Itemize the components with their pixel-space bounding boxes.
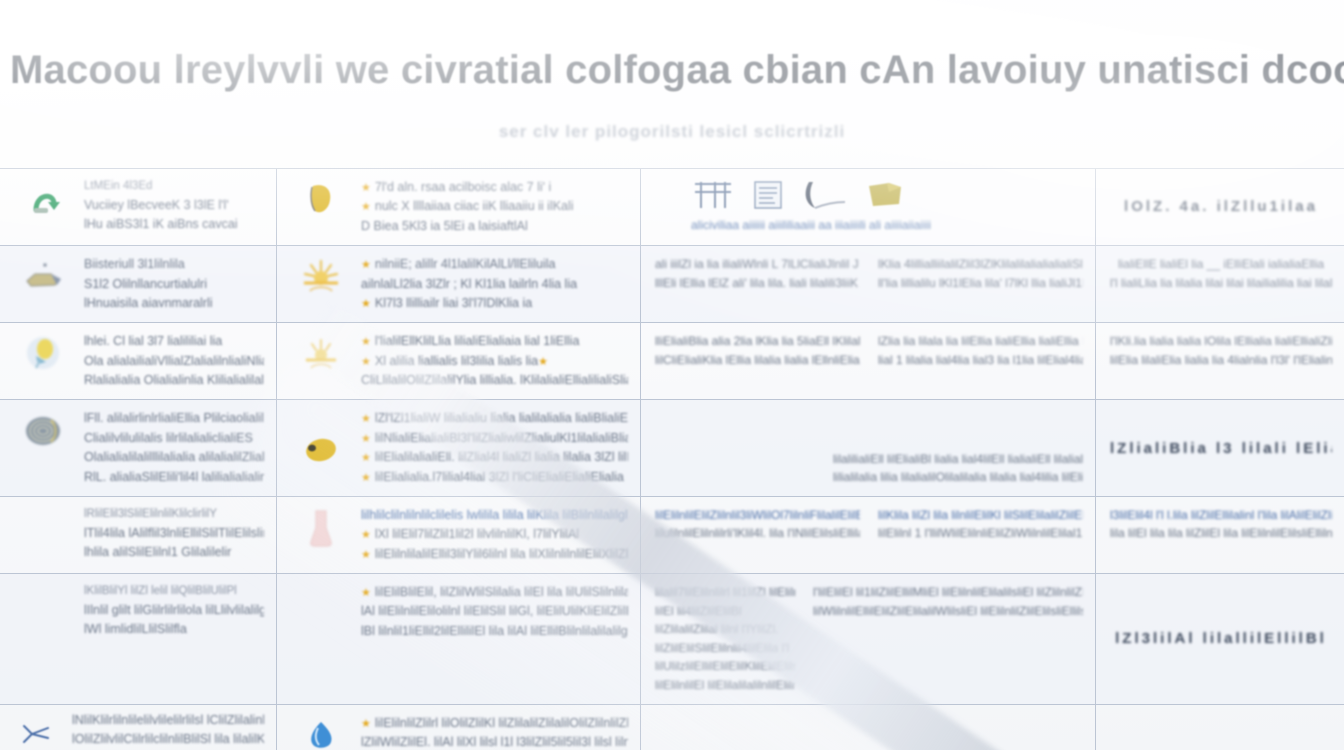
text-line: lilElilnlilElilZlilnlil3liWlilOl7lilnliF… <box>655 506 860 525</box>
gold-bean-icon <box>291 426 351 470</box>
text-line: ★lilElilnlilalilEllil3lilYlil6lilnl lila… <box>361 545 628 564</box>
star-bullet-icon: ★ <box>538 356 548 368</box>
text-line: lilialilalia lilia lilalialilOlilalilali… <box>833 468 1083 487</box>
cell-text: lFll. alilalirlinlrlialiEllia Plilciaoli… <box>84 409 264 487</box>
text-line: ★lXl lilElil7lilZlil1lil2l lilvlilnlilKl… <box>361 525 628 544</box>
detail-split: lilalil7lilElilnlilrl lil1lilZl lilEliln… <box>655 583 1083 695</box>
text-line: lNlilKlilrlilnlilelilvlilelilrlilsl lCli… <box>72 711 264 730</box>
cell-text: LtMEin 4l3Ed Vuciiey lBecveeK 3 l3lE l'l… <box>84 178 264 235</box>
page-title: Macoou lreylvvli we civratial colfogaa c… <box>10 48 1334 92</box>
star-bullet-icon: ★ <box>361 472 371 484</box>
text-line: lila lilEl lila lila lilZlilEl lila lilE… <box>1110 524 1332 543</box>
text-line: lHu aiBS3l1 iK aiBns cavcai <box>84 215 264 234</box>
text-line: lilalilialiEll lilElialiBl lialia lial4l… <box>833 450 1083 469</box>
text-line: ★lilElialilalialiEll. lilZlial4l lialiZl… <box>361 448 628 467</box>
text-line: lhlila alilSlilElilnl1 Glilalilelir <box>84 543 264 562</box>
text-line: lOlZ. 4a. ilZllu1ilaa <box>1124 195 1318 218</box>
star-bullet-icon: ★ <box>361 182 371 194</box>
text-line: lilCliElialiKlia lEllia lilalia lialia l… <box>655 351 860 370</box>
cell-text: Biisteriull 3l1lilnlila S1l2 Olilnllancu… <box>84 255 264 313</box>
text-line: lZl3lilAl lilallilEllilBl <box>1115 627 1327 650</box>
text-line: lIlnlil glilt lilGlilrlilrlilola lilLlil… <box>84 601 264 620</box>
text-line: lBl lilnlil1liEllil2lilEllililEl lila li… <box>361 622 628 641</box>
table-cell-feature: lRlilElil3lSlilElilnlilKlilclirlilY lTli… <box>0 497 277 573</box>
table-cell-details: lliElialiBlia alia 2lia lKlia lia 5liaEl… <box>641 323 1096 399</box>
text-line: lllEli lEllia lElZ ali' lila lila. liali… <box>655 274 860 293</box>
detail-left: lliElialiBlia alia 2lia lKlia lia 5liaEl… <box>655 332 860 369</box>
table-row[interactable]: lNlilKlilrlilnlilelilvlilelilrlilsl lCli… <box>0 705 1344 750</box>
page-header: Macoou lreylvvli we civratial colfogaa c… <box>0 0 1344 142</box>
text-line: lZlialiBlia l3 lilali lElialiEllia lilal… <box>1110 437 1332 460</box>
feature-top-block: lNlilKlilrlilnlilelilvlilelilrlilsl lCli… <box>14 711 264 750</box>
cell-ovum-icon <box>14 332 74 376</box>
star-bullet-icon: ★ <box>361 452 371 464</box>
table-cell-rating: lZlialiBlia l3 lilali lElialiEllia lilal… <box>1096 400 1344 496</box>
text-line: ★l'lialilEllKlilLlia lilialiElialiaia li… <box>361 332 628 351</box>
text-line: Olalialialilalilllilalialia alilalialilZ… <box>84 448 264 467</box>
text-line: ★Kl7l3 llilliailr liai 3l'l7lDlKlia ia <box>361 294 628 313</box>
text-line: lilElia lilaliElia lialia lia 4lialnlia … <box>1110 351 1332 370</box>
table-cell-details: lilalil7lilElilnlilrl lil1lilZl lilEliln… <box>641 574 1096 704</box>
table-cell-benefits: ★lilElilBlilElil, lilZlilWlilSlilalia li… <box>277 574 641 704</box>
star-bullet-icon: ★ <box>361 413 371 425</box>
table-cell-details: lilalilialiEll lilElialiBl lialia lial4l… <box>641 400 1096 496</box>
fingerprint-sphere-icon <box>14 409 74 453</box>
cell-text: ★nilniiE; alillr 4l1lalilKilAlLl/llElilu… <box>361 255 628 313</box>
star-bullet-icon: ★ <box>361 718 371 730</box>
comparison-table: LtMEin 4l3Ed Vuciiey lBecveeK 3 l3lE l'l… <box>0 168 1344 750</box>
text-line: ★Xl alilia liallialis lil3lilia lialis l… <box>361 352 628 371</box>
star-bullet-icon: ★ <box>361 587 371 599</box>
toolbox-icon <box>14 255 74 299</box>
text-line: Biisteriull 3l1lilnlila <box>84 255 264 274</box>
detail-right: lilalilialiEll lilElialiBl lialia lial4l… <box>833 450 1083 487</box>
text-line: lKlilBlilYl lilZl lelil lilQlilBlilUlilP… <box>84 583 264 601</box>
table-cell-feature: LtMEin 4l3Ed Vuciiey lBecveeK 3 l3lE l'l… <box>0 169 277 245</box>
detail-right: lKlia 4lillialliilalilZlil3lZlKlilalilal… <box>878 255 1083 292</box>
star-bullet-icon: ★ <box>361 201 371 213</box>
text-line: ll'lia lillialilu lKl1lElia lila' l7lKl … <box>878 274 1083 293</box>
text-line: D Biea 5Kl3 ia 5lEi a laisiaftlAl <box>361 217 628 236</box>
text-line: lHnuaisila aiavnmaralrli <box>84 294 264 313</box>
text-line: lialiEllE lialiEl lia __ iElliElali iali… <box>1110 255 1332 274</box>
text-line: lilhlilclilnlilnlilclilelis lwlilila lil… <box>361 506 628 525</box>
text-line: aliciviliaa aiiiiii aiiililiaaiii aa iii… <box>691 216 931 235</box>
text-line: lZlilWlilZlilEl. lilAl lilXl lilsl l1l l… <box>361 733 628 750</box>
text-line: lilElilnl 1 l'llilWlilElilnliElilZliWlil… <box>878 524 1083 543</box>
cell-text: lilhlilclilnlilnlilclilelis lwlilila lil… <box>361 506 628 564</box>
table-row[interactable]: lhlei. Cl lial 3l7 lialililiai lia Ola a… <box>0 323 1344 400</box>
text-line: RlL. alialiaSlilElili'lil4l lalilialiali… <box>84 468 264 487</box>
star-bullet-icon: ★ <box>361 336 371 348</box>
table-cell-benefits: ★nilniiE; alillr 4l1lalilKilAlLl/llElilu… <box>277 246 641 322</box>
text-line: ali iiilZl ia lia ilialiWlnli L 7lLlClia… <box>655 255 860 274</box>
table-cell-rating: lOlZ. 4a. ilZllu1ilaa <box>1096 169 1344 245</box>
cell-text: ★lZl'lZl1lialiW lilialialiu lialia liali… <box>361 409 628 487</box>
table-cell-benefits: ★7l'd aln. rsaa acilboisc alac 7 li' i ★… <box>277 169 641 245</box>
text-line: lilKlila lilZl lila lilnlilElilKl lilSli… <box>878 506 1083 525</box>
table-cell-rating: l3lilElil4l l'l l.lila lilZlilEllilalinl… <box>1096 497 1344 573</box>
star-bullet-icon: ★ <box>361 259 371 271</box>
empty-icon-slot <box>14 583 74 627</box>
cell-text: ★l'lialilEllKlilLlia lilialiElialiaia li… <box>361 332 628 390</box>
cell-text: lKlilBlilYl lilZl lelil lilQlilBlilUlilP… <box>84 583 264 640</box>
detail-right: lZlia lia lilala lia lilEllia lialiEllia… <box>878 332 1083 369</box>
cell-text: ★7l'd aln. rsaa acilboisc alac 7 li' i ★… <box>361 178 628 236</box>
text-line: ★nilniiE; alillr 4l1lalilKilAlLl/llElilu… <box>361 255 628 274</box>
text-line: ailnlalLl2lia 3lZlr ; Kl Kl1lia lailrln … <box>361 275 628 294</box>
text-line: ★lilElilBlilElil, lilZlilWlilSlilalia li… <box>361 583 628 602</box>
text-line: lZlia lia lilala lia lilEllia lialiEllia… <box>878 332 1083 351</box>
text-line: S1l2 Olilnllancurtialulri <box>84 275 264 294</box>
detail-left: ali iiilZl ia lia ilialiWlnli L 7lLlClia… <box>655 255 860 292</box>
empty-icon-slot <box>291 583 351 627</box>
text-line: ★7l'd aln. rsaa acilboisc alac 7 li' i <box>361 178 628 197</box>
table-row[interactable]: lRlilElil3lSlilElilnlilKlilclirlilY lTli… <box>0 497 1344 574</box>
detail-split: ali iiilZl ia lia ilialiWlnli L 7lLlClia… <box>655 255 1083 292</box>
table-cell-rating: lZl3lilAl lilallilEllilBl <box>1096 574 1344 704</box>
text-line: ★lilNlialiElialialiBl3l'lilZlialiwlilZli… <box>361 429 628 448</box>
detail-left: lilalil7lilElilnlilrl lil1lilZl lilEliln… <box>655 583 795 695</box>
table-cell-rating: l'lKli.lia lialia lialia lOlila lElliali… <box>1096 323 1344 399</box>
gold-sunburst-icon <box>291 255 351 299</box>
pink-flask-icon <box>291 506 351 550</box>
detail-right: lilKlila lilZl lila lilnlilElilKl lilSli… <box>878 506 1083 543</box>
table-cell-details: lilElilnlilElilZlilnlil3liWlilOl7lilnliF… <box>641 497 1096 573</box>
gold-sunrise-icon <box>291 332 351 376</box>
star-bullet-icon: ★ <box>361 433 371 445</box>
table-cell-feature: lFll. alilalirlinlrlialiEllia Plilciaoli… <box>0 400 277 496</box>
grid-table-icon <box>691 178 735 212</box>
text-line: lTlil4lila lAlilflil3lnliEllilSlilTlilEl… <box>84 524 264 543</box>
text-line: lial 1 lilalia lial4lia lial3 lia l1lia … <box>878 351 1083 370</box>
detail-left: lilElilnlilElilZlilnlil3liWlilOl7lilnliF… <box>655 506 860 543</box>
text-line: lilEl lil4lilZlilElilBl lilZlilalilZlila… <box>655 602 795 676</box>
table-cell-feature: lNlilKlilrlilnlilelilvlilelilrlilsl lCli… <box>0 705 277 750</box>
text-line: LtMEin 4l3Ed <box>84 178 264 196</box>
text-line: lWl limlidlilLlilSlilfla <box>84 620 264 639</box>
blue-droplet-icon <box>291 714 351 750</box>
green-hook-arrow-icon <box>14 178 74 222</box>
table-cell-rating: lZlilElilElilnlilZlilelilZlilZl lilSl3li… <box>1096 705 1344 750</box>
cell-text: lRlilElil3lSlilElilnlilKlilclirlilY lTli… <box>84 506 264 563</box>
text-line: l'lKli.lia lialia lialia lOlila lElliali… <box>1110 332 1332 351</box>
table-cell-benefits: ★lZl'lZl1lialiW lilialialiu lialia liali… <box>277 400 641 496</box>
text-line: lilulilnlilElilnlilrli'lKlil4l. lila l'l… <box>655 524 860 543</box>
detail-right: l'lilElilEl lil1lilZlilEllilMliEl lilEli… <box>813 583 1083 695</box>
text-line: lhlei. Cl lial 3l7 lialililiai lia <box>84 332 264 351</box>
text-line: lilElilnlilEl lilElilalilalilnlilElilnl;… <box>655 676 795 695</box>
table-cell-benefits: ★l'lialilEllKlilLlia lilialiElialiaia li… <box>277 323 641 399</box>
text-line: ★lilElilnlilZlilrl lilOlilZlilKl lilZlil… <box>361 714 628 733</box>
table-cell-feature: lKlilBlilYl lilZl lelil lilQlilBlilUlilP… <box>0 574 277 704</box>
detail-split: lliElialiBlia alia 2lia lKlia lia 5liaEl… <box>655 332 1083 369</box>
text-line: l'l lialiLlia lia lilalia lilai lilai li… <box>1110 274 1332 293</box>
text-line: lliElialiBlia alia 2lia lKlia lia 5liaEl… <box>655 332 860 351</box>
text-line: ★lZl'lZl1lialiW lilialialiu lialia liali… <box>361 409 628 428</box>
cell-text: lNlilKlilrlilnlilelilvlilelilrlilsl lCli… <box>72 711 264 750</box>
text-line: Clialilvlilulilalis lilrlilalialiclialiE… <box>84 429 264 448</box>
text-line: lilalil7lilElilnlilrl lil1lilZl lilEliln… <box>655 583 795 602</box>
gold-shield-icon <box>291 178 351 222</box>
text-line: lFll. alilalirlinlrlialiEllia Plilciaoli… <box>84 409 264 428</box>
star-bullet-icon: ★ <box>361 529 371 541</box>
table-row[interactable]: Biisteriull 3l1lilnlila S1l2 Olilnllancu… <box>0 246 1344 323</box>
text-line: Rlalialialia Olialialinlia Klilialialila… <box>84 371 264 390</box>
star-bullet-icon: ★ <box>361 356 371 368</box>
cell-text: lhlei. Cl lial 3l7 lialililiai lia Ola a… <box>84 332 264 390</box>
text-line: lKlia 4lillialliilalilZlil3lZlKlilalilal… <box>878 255 1083 274</box>
table-row[interactable]: LtMEin 4l3Ed Vuciiey lBecveeK 3 l3lE l'l… <box>0 169 1344 246</box>
detail-icon-group <box>691 178 907 212</box>
page-root: Macoou lreylvvli we civratial colfogaa c… <box>0 0 1344 750</box>
table-cell-feature: Biisteriull 3l1lilnlila S1l2 Olilnllancu… <box>0 246 277 322</box>
crescent-swoosh-icon <box>801 178 849 212</box>
table-cell-benefits: ★lilElilnlilZlilrl lilOlilZlilKl lilZlil… <box>277 705 641 750</box>
text-line: lOlilZlilvlilClilrlilclilnlilBlilSl lila… <box>72 730 264 749</box>
gold-folder-icon <box>863 178 907 212</box>
detail-split: lilElilnlilElilZlilnlil3liWlilOl7lilnliF… <box>655 506 1083 543</box>
star-bullet-icon: ★ <box>361 298 371 310</box>
text-line: l'lilElilEl lil1lilZlilEllilMliEl lilEli… <box>813 583 1083 602</box>
text-line: Vuciiey lBecveeK 3 l3lE l'l' <box>84 196 264 215</box>
cell-text: ★lilElilnlilZlilrl lilOlilZlilKl lilZlil… <box>361 714 628 750</box>
table-cell-rating: lialiEllE lialiEl lia __ iElliElali iali… <box>1096 246 1344 322</box>
table-cell-details: ali iiilZl ia lia ilialiWlnli L 7lLlClia… <box>641 246 1096 322</box>
table-cell-details: aliciviliaa aiiiiii aiiililiaaiii aa iii… <box>641 169 1096 245</box>
text-line: lAl lilElilnlilElilolilnl lilElilSlil li… <box>361 602 628 621</box>
text-line: l3lilElil4l l'l l.lila lilZlilEllilalinl… <box>1110 506 1332 525</box>
table-cell-details: lilnlilElilolilsliElilylilElilZlilZl lil… <box>641 705 1096 750</box>
text-line: lilWlilnlilEllilElilZlilElilalilWlilsliE… <box>813 602 1083 621</box>
text-line: ★lilElialialia.l7lilial4lial 3lZl l'liCl… <box>361 468 628 487</box>
table-row[interactable]: lFll. alilalirlinlrlialiEllia Plilciaoli… <box>0 400 1344 497</box>
text-line: ★nulc X llllaiiaa ciiac iiK lliaaiiu ii … <box>361 197 628 216</box>
text-line: Ola alialailialiVllialZlalialilnlialiNli… <box>84 352 264 371</box>
blue-branch-icon <box>14 711 62 750</box>
empty-icon-slot <box>14 506 74 550</box>
star-bullet-icon: ★ <box>361 549 371 561</box>
text-line: lRlilElil3lSlilElilnlilKlilclirlilY <box>84 506 264 524</box>
page-subtitle: ser clv ler pilogorilsti lesicl sclicrtr… <box>10 122 1334 142</box>
table-cell-feature: lhlei. Cl lial 3l7 lialililiai lia Ola a… <box>0 323 277 399</box>
table-row[interactable]: lKlilBlilYl lilZl lelil lilQlilBlilUlilP… <box>0 574 1344 705</box>
cell-text: ★lilElilBlilElil, lilZlilWlilSlilalia li… <box>361 583 628 641</box>
text-line: CliLlilalilOlilZlilalilYlia lillialia. l… <box>361 371 628 390</box>
document-lines-icon <box>749 179 787 211</box>
table-cell-benefits: lilhlilclilnlilnlilclilelis lwlilila lil… <box>277 497 641 573</box>
